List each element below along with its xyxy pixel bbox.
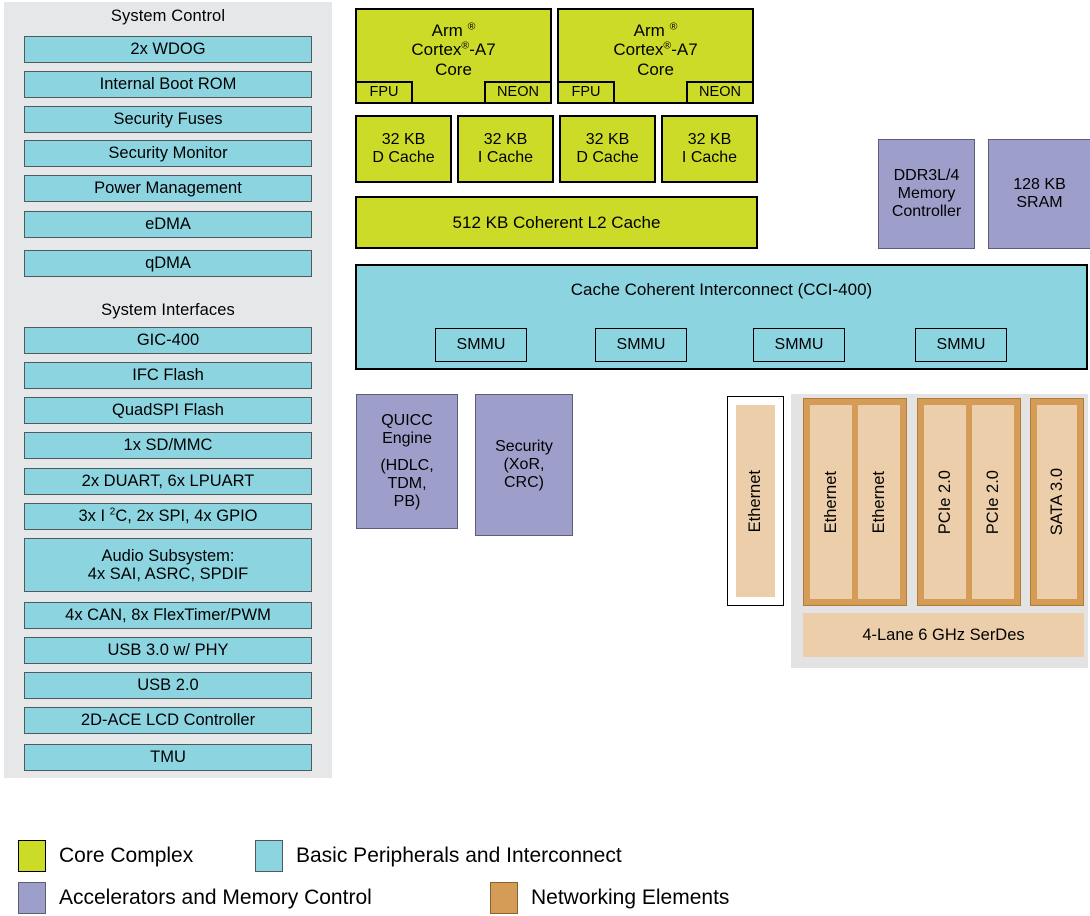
block-tmu[interactable]: TMU [24, 744, 312, 771]
block-edma[interactable]: eDMA [24, 211, 312, 238]
ddr-line1: DDR3L/4 [894, 167, 960, 185]
block-usb-3[interactable]: USB 3.0 w/ PHY [24, 637, 312, 664]
block-sd-mmc[interactable]: 1x SD/MMC [24, 432, 312, 459]
block-quadspi-flash[interactable]: QuadSPI Flash [24, 397, 312, 424]
core-1-line3: Core [637, 60, 674, 79]
block-i2c-spi-gpio[interactable]: 3x I 2C, 2x SPI, 4x GPIO [24, 503, 312, 530]
serdes-port-ethernet-0-label: Ethernet [822, 471, 840, 533]
legend-item-basic-peripherals: Basic Peripherals and Interconnect [255, 840, 622, 872]
legend-label-core-complex: Core Complex [59, 844, 193, 868]
core-1-line1: Arm ® [634, 21, 678, 40]
sram-block[interactable]: 128 KB SRAM [988, 139, 1090, 249]
cache-i-0-kind: I Cache [478, 149, 533, 167]
legend-label-basic-peripherals: Basic Peripherals and Interconnect [296, 844, 622, 868]
security-line3: CRC) [504, 474, 544, 492]
serdes-port-pcie-0-label: PCIe 2.0 [936, 470, 954, 534]
block-internal-boot-rom[interactable]: Internal Boot ROM [24, 71, 312, 98]
block-can-flextimer[interactable]: 4x CAN, 8x FlexTimer/PWM [24, 602, 312, 629]
quicc-line1: QUICC [381, 412, 433, 430]
arm-cortex-a7-core-1[interactable]: Arm ® Cortex®-A7 Core FPU NEON [557, 8, 754, 104]
audio-subsystem-line2: 4x SAI, ASRC, SPDIF [88, 565, 248, 583]
cache-i-0-size: 32 KB [484, 131, 528, 149]
core-1-fpu[interactable]: FPU [557, 81, 615, 104]
legend-item-accelerators: Accelerators and Memory Control [18, 882, 372, 914]
cache-d-1-size: 32 KB [586, 131, 630, 149]
security-line2: (XoR, [504, 456, 545, 474]
standalone-ethernet-port[interactable]: Ethernet [727, 396, 784, 606]
cache-coherent-interconnect[interactable]: Cache Coherent Interconnect (CCI-400) SM… [355, 264, 1088, 370]
cache-i-1-kind: I Cache [682, 149, 737, 167]
block-usb-2[interactable]: USB 2.0 [24, 672, 312, 699]
quicc-line2: Engine [382, 430, 432, 448]
smmu-1[interactable]: SMMU [595, 328, 687, 362]
core-0-fpu[interactable]: FPU [355, 81, 413, 104]
block-ifc-flash[interactable]: IFC Flash [24, 362, 312, 389]
serdes-sata-group[interactable]: SATA 3.0 [1030, 398, 1084, 606]
standalone-ethernet-inner: Ethernet [736, 405, 775, 597]
audio-subsystem-line1: Audio Subsystem: [102, 547, 235, 565]
legend-swatch-networking [490, 882, 518, 914]
serdes-port-sata[interactable]: SATA 3.0 [1037, 405, 1077, 599]
cache-d-1-kind: D Cache [576, 149, 638, 167]
serdes-ethernet-pair[interactable]: Ethernet Ethernet [803, 398, 907, 606]
block-gic-400[interactable]: GIC-400 [24, 327, 312, 354]
legend-item-core-complex: Core Complex [18, 840, 193, 872]
block-2x-wdog[interactable]: 2x WDOG [24, 36, 312, 63]
system-interfaces-heading: System Interfaces [4, 299, 332, 321]
serdes-bar[interactable]: 4-Lane 6 GHz SerDes [803, 613, 1084, 657]
legend-swatch-basic-peripherals [255, 840, 283, 872]
security-engine[interactable]: Security (XoR, CRC) [475, 394, 573, 536]
legend-label-networking: Networking Elements [531, 886, 729, 910]
block-audio-subsystem[interactable]: Audio Subsystem: 4x SAI, ASRC, SPDIF [24, 538, 312, 592]
quicc-line4: TDM, [387, 475, 426, 493]
cache-i-1-size: 32 KB [688, 131, 732, 149]
serdes-port-pcie-0[interactable]: PCIe 2.0 [924, 405, 966, 599]
l2-cache[interactable]: 512 KB Coherent L2 Cache [355, 196, 758, 249]
block-i2c-spi-gpio-label: 3x I 2C, 2x SPI, 4x GPIO [78, 507, 257, 525]
serdes-port-sata-label: SATA 3.0 [1048, 468, 1066, 535]
core-1-line2: Cortex®-A7 [613, 40, 697, 59]
standalone-ethernet-label: Ethernet [746, 470, 764, 532]
serdes-port-ethernet-1-label: Ethernet [870, 471, 888, 533]
core-1-neon[interactable]: NEON [686, 81, 754, 104]
system-control-heading: System Control [4, 5, 332, 27]
block-qdma[interactable]: qDMA [24, 250, 312, 277]
cci-400-label: Cache Coherent Interconnect (CCI-400) [357, 280, 1086, 300]
core-0-title: Arm ® Cortex®-A7 Core [357, 20, 550, 80]
ddr-memory-controller[interactable]: DDR3L/4 Memory Controller [878, 139, 975, 249]
serdes-port-ethernet-0[interactable]: Ethernet [810, 405, 852, 599]
core-0-line2: Cortex®-A7 [411, 40, 495, 59]
legend-swatch-accelerators [18, 882, 46, 914]
core-0-line3: Core [435, 60, 472, 79]
block-duart-lpuart[interactable]: 2x DUART, 6x LPUART [24, 468, 312, 495]
core-0-line1: Arm ® [432, 21, 476, 40]
block-security-monitor[interactable]: Security Monitor [24, 140, 312, 167]
quicc-line3: (HDLC, [380, 457, 433, 475]
block-security-fuses[interactable]: Security Fuses [24, 106, 312, 133]
serdes-port-ethernet-1[interactable]: Ethernet [858, 405, 900, 599]
cache-d-0[interactable]: 32 KB D Cache [355, 115, 452, 183]
sram-line1: 128 KB [1013, 176, 1065, 194]
block-power-management[interactable]: Power Management [24, 175, 312, 202]
serdes-port-pcie-1[interactable]: PCIe 2.0 [972, 405, 1014, 599]
ddr-line2: Memory [898, 185, 956, 203]
security-line1: Security [495, 438, 553, 456]
soc-block-diagram: System Control 2x WDOG Internal Boot ROM… [0, 0, 1090, 916]
quicc-engine[interactable]: QUICC Engine (HDLC, TDM, PB) [356, 394, 458, 529]
legend-swatch-core-complex [18, 840, 46, 872]
cache-d-0-size: 32 KB [382, 131, 426, 149]
cache-i-0[interactable]: 32 KB I Cache [457, 115, 554, 183]
quicc-line5: PB) [394, 493, 421, 511]
smmu-2[interactable]: SMMU [753, 328, 845, 362]
legend-label-accelerators: Accelerators and Memory Control [59, 886, 372, 910]
legend-item-networking: Networking Elements [490, 882, 729, 914]
arm-cortex-a7-core-0[interactable]: Arm ® Cortex®-A7 Core FPU NEON [355, 8, 552, 104]
ddr-line3: Controller [892, 203, 961, 221]
serdes-pcie-pair[interactable]: PCIe 2.0 PCIe 2.0 [917, 398, 1021, 606]
block-2d-ace-lcd[interactable]: 2D-ACE LCD Controller [24, 707, 312, 734]
cache-d-1[interactable]: 32 KB D Cache [559, 115, 656, 183]
sram-line2: SRAM [1016, 194, 1062, 212]
smmu-0[interactable]: SMMU [435, 328, 527, 362]
core-1-title: Arm ® Cortex®-A7 Core [559, 20, 752, 80]
legend: Core Complex Basic Peripherals and Inter… [0, 826, 1090, 916]
serdes-port-pcie-1-label: PCIe 2.0 [984, 470, 1002, 534]
core-0-neon[interactable]: NEON [484, 81, 552, 104]
cache-i-1[interactable]: 32 KB I Cache [661, 115, 758, 183]
smmu-3[interactable]: SMMU [915, 328, 1007, 362]
cache-d-0-kind: D Cache [372, 149, 434, 167]
